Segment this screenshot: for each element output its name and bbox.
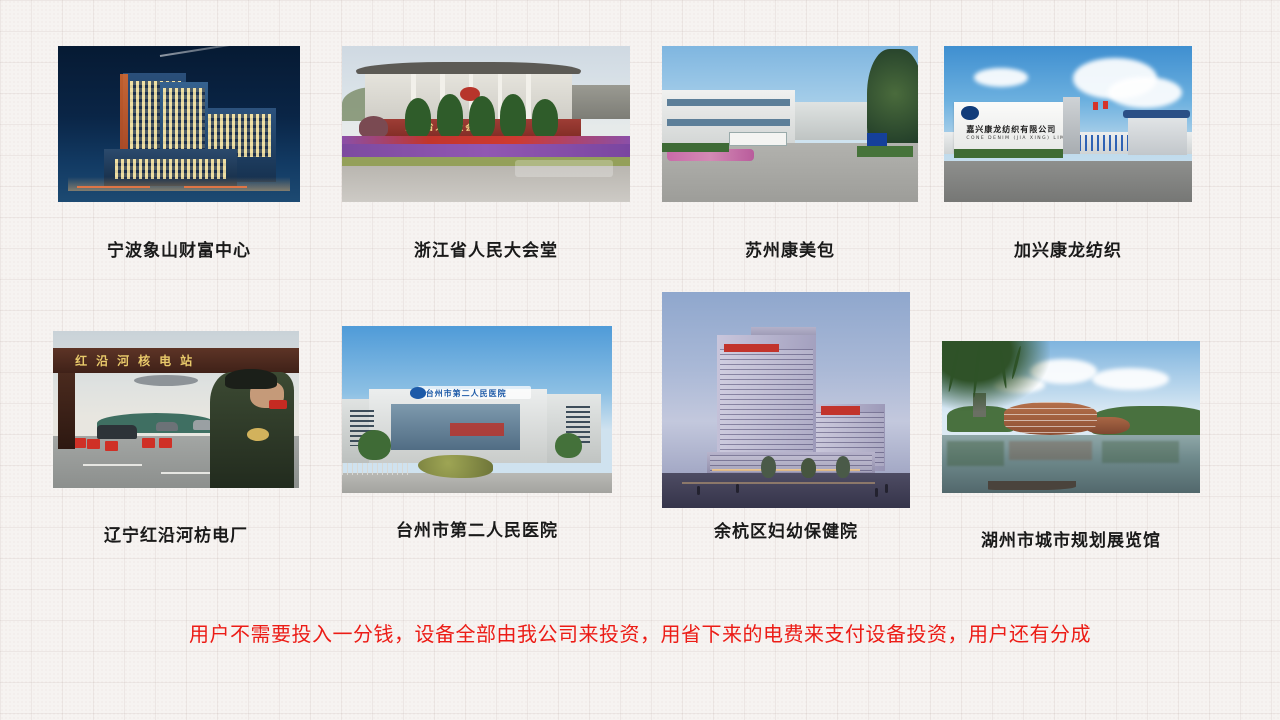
arch-ceiling-light xyxy=(134,375,198,386)
wooden-boat xyxy=(988,481,1076,490)
gallery-item-8-caption: 湖州市城市规划展览馆 xyxy=(920,526,1222,551)
gallery-item-2-caption: 浙江省人民大会堂 xyxy=(322,236,650,261)
gallery-item-7-caption: 余杭区妇幼保健院 xyxy=(646,517,926,542)
tree-reflection xyxy=(1102,441,1179,462)
jiaxing-kanglong-textile-photo[interactable]: 嘉兴康龙纺织有限公司 CONE DENIM (JIA XING) LIMITED xyxy=(944,46,1192,202)
hall-reflection xyxy=(1009,441,1092,459)
hospital-logo-icon xyxy=(410,387,426,399)
company-logo-icon xyxy=(961,106,978,120)
parked-car xyxy=(97,425,136,439)
liaoning-hongyanhe-plant-photo[interactable]: 红沿河核电站 xyxy=(53,331,299,488)
plant-name-text: 红沿河核电站 xyxy=(75,352,201,369)
taizhou-second-peoples-hospital-photo[interactable]: 台州市第二人民医院 xyxy=(342,326,612,493)
sign-pillar xyxy=(1063,97,1080,153)
zhejiang-great-hall-photo[interactable]: 浙江省人民大会堂 xyxy=(342,46,630,202)
slide-canvas: 宁波象山财富中心 浙江省人民大会堂 浙江省人民大会堂 xyxy=(0,0,1280,720)
great-hall-roof xyxy=(356,62,581,74)
watermark-overlay xyxy=(515,160,613,177)
guard-cap xyxy=(225,369,277,389)
tree-reflection xyxy=(947,441,1004,465)
suzhou-kangmeibao-photo[interactable] xyxy=(662,46,918,202)
hedge-row xyxy=(954,149,1063,158)
gallery-item-1-caption: 宁波象山财富中心 xyxy=(18,236,340,261)
gallery-item-6-caption: 台州市第二人民医院 xyxy=(322,516,632,541)
guard-collar-badge xyxy=(269,400,286,409)
hospital-name-text: 台州市第二人民医院 xyxy=(426,388,507,399)
fence-rail xyxy=(342,463,412,475)
right-hedge xyxy=(857,146,913,157)
light-beam xyxy=(159,46,293,57)
tarmac-yard xyxy=(944,161,1192,202)
footnote-text: 用户不需要投入一分钱，设备全部由我公司来投资，用省下来的电费来支付设备投资，用户… xyxy=(0,618,1280,647)
yuhang-maternal-child-hospital-photo[interactable] xyxy=(662,292,910,508)
light-streak xyxy=(77,186,150,188)
company-name-cn: 嘉兴康龙纺织有限公司 xyxy=(966,124,1056,135)
gallery-item-5-caption: 辽宁红沿河枋电厂 xyxy=(19,521,333,546)
gate-house xyxy=(1128,115,1188,156)
podium-base xyxy=(707,452,876,476)
entrance-red-banner xyxy=(450,423,504,436)
wing-roof-sign xyxy=(821,406,861,415)
huzhou-urban-planning-exhibition-hall-photo[interactable] xyxy=(942,341,1200,493)
gate-canopy xyxy=(1123,110,1190,118)
ningbo-xiangshan-wealth-center-photo[interactable] xyxy=(58,46,300,202)
factory-name-sign xyxy=(729,132,787,146)
gallery-item-4-caption: 加兴康龙纺织 xyxy=(928,236,1208,261)
street-glow xyxy=(68,177,291,191)
green-hedge xyxy=(662,143,729,152)
light-streak xyxy=(184,186,247,188)
warehouse-shed xyxy=(790,102,867,139)
tower-roof-sign xyxy=(724,344,779,353)
flag-icon xyxy=(1093,102,1098,110)
gallery-item-3-caption: 苏州康美包 xyxy=(648,236,932,261)
flag-icon xyxy=(1103,101,1108,109)
parked-car xyxy=(156,422,178,431)
